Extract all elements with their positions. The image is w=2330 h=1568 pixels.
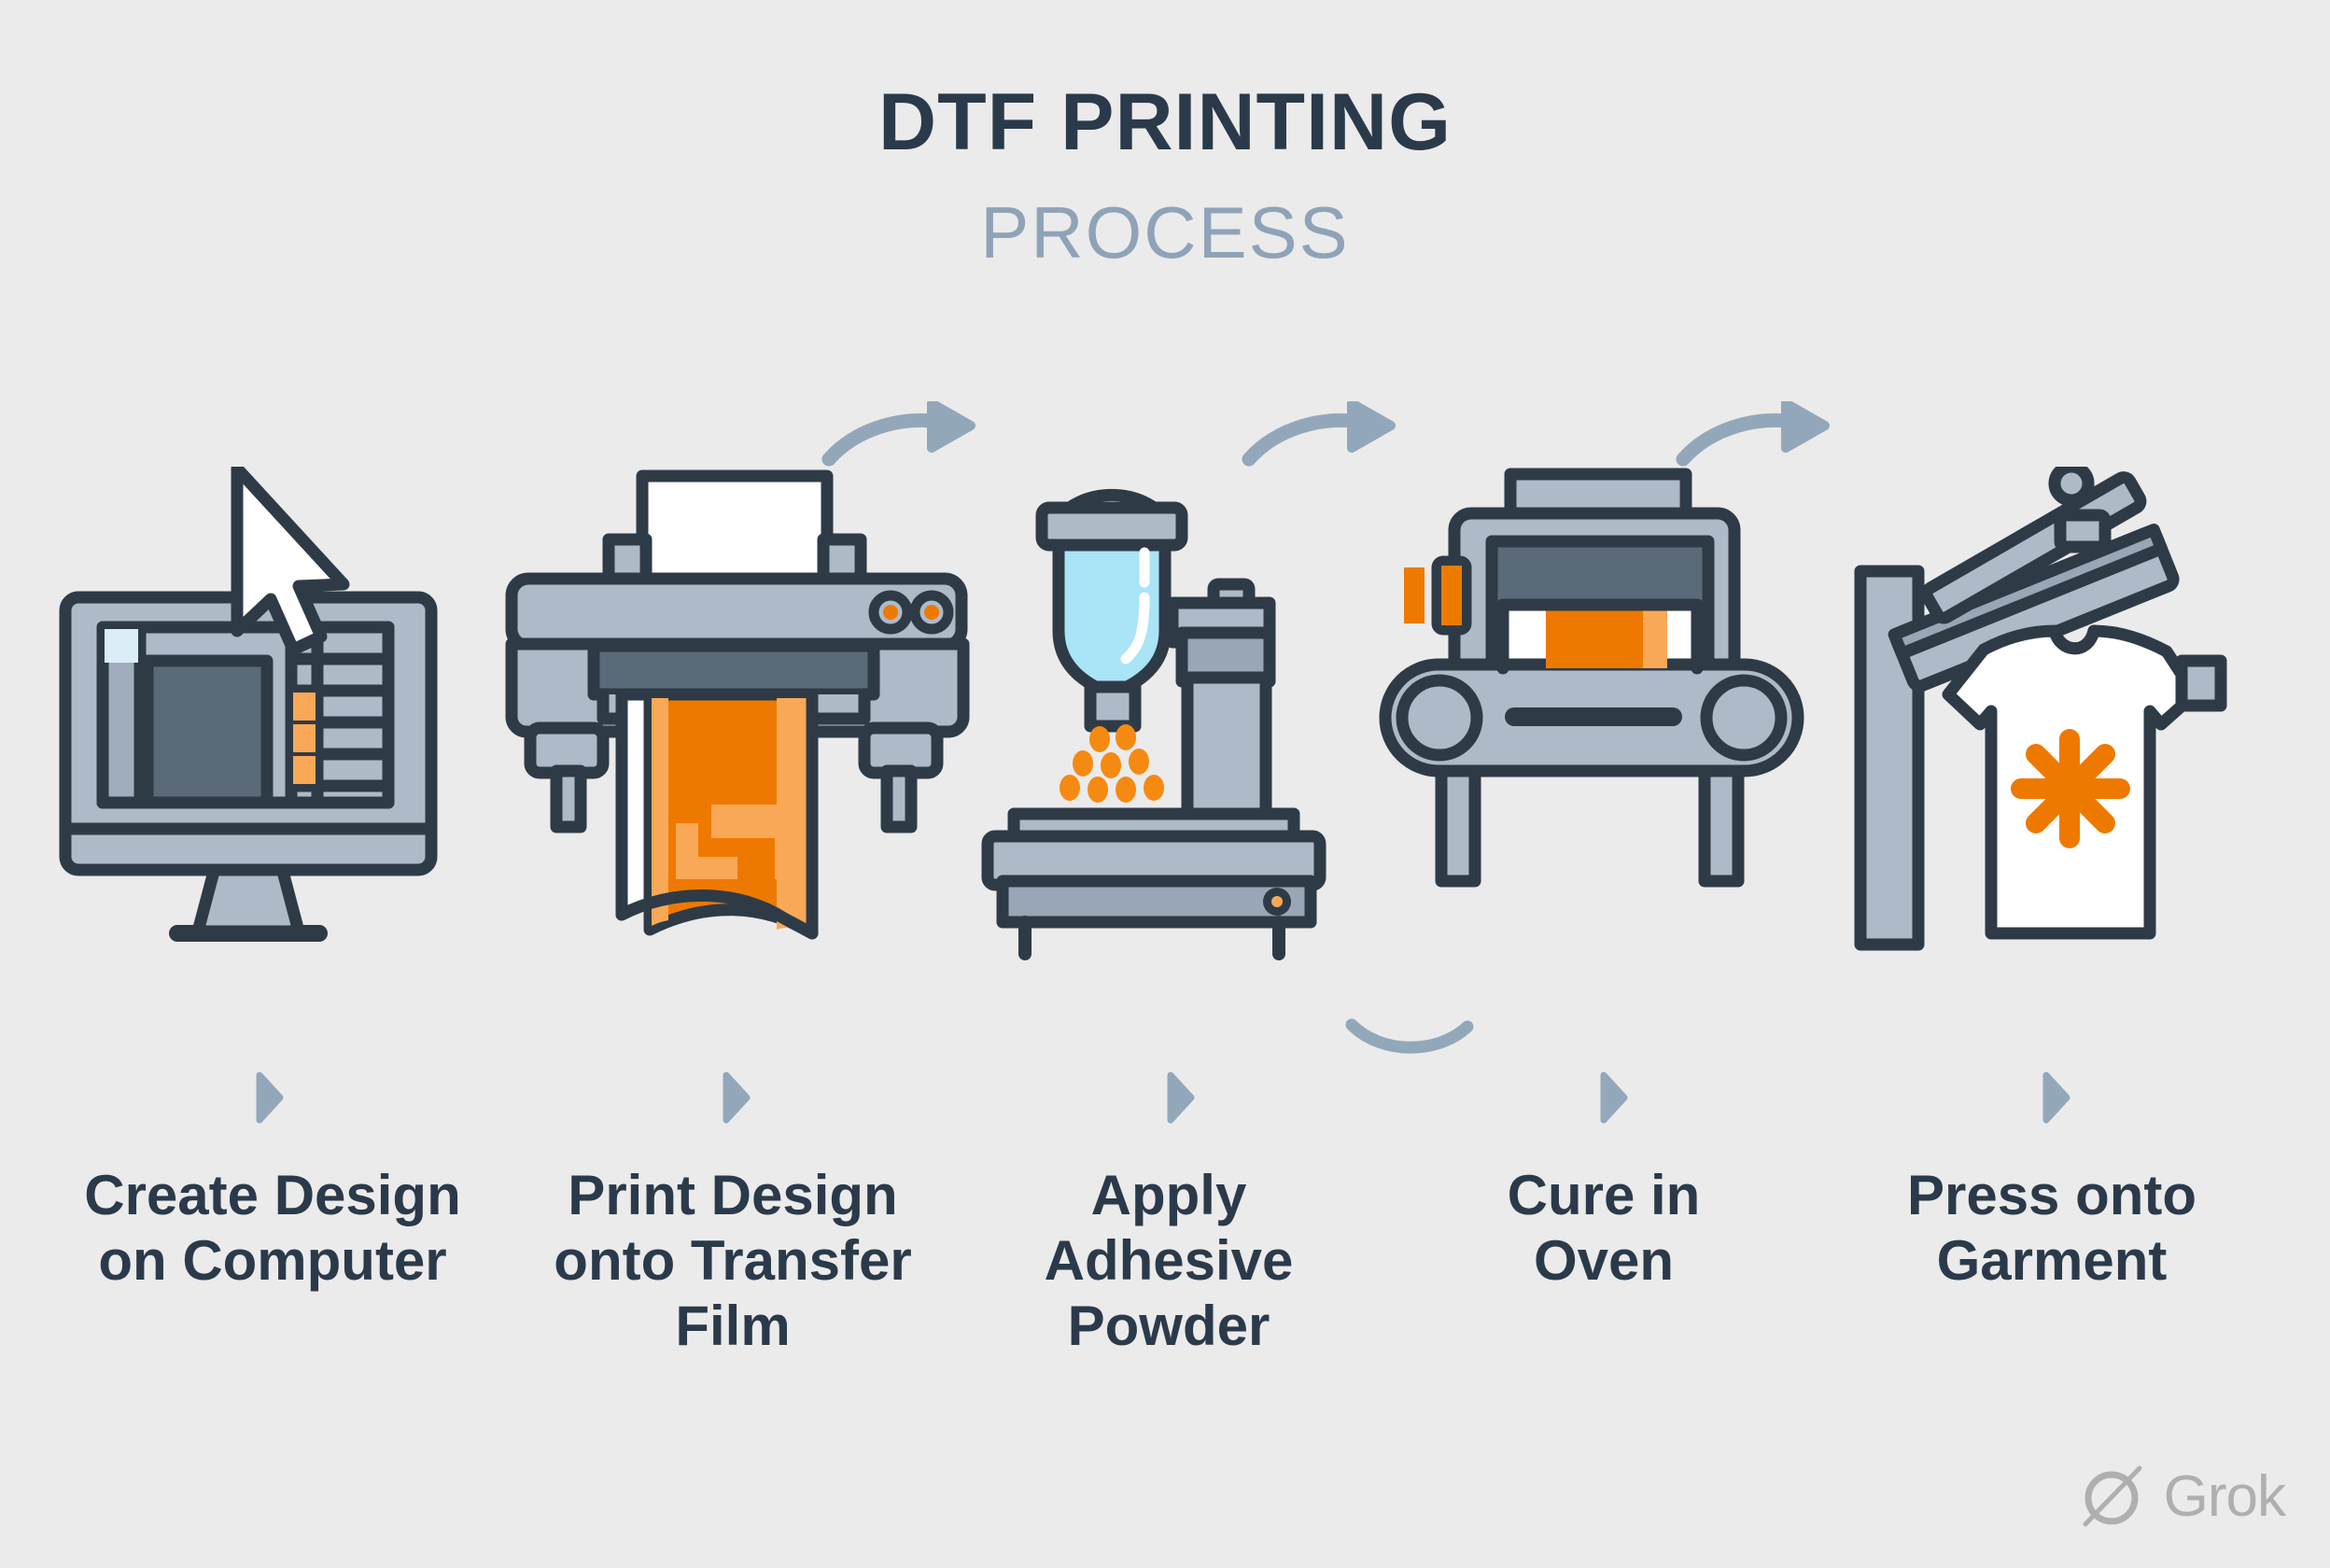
step-label-3: Apply Adhesive Powder bbox=[954, 1163, 1383, 1360]
step-marker-5 bbox=[2041, 1071, 2072, 1128]
step-label-5: Press onto Garment bbox=[1828, 1163, 2276, 1294]
step-label-3-line2: Adhesive bbox=[954, 1228, 1383, 1294]
step-marker-4 bbox=[1598, 1071, 1630, 1128]
page-title: DTF PRINTING PROCESS bbox=[0, 82, 2330, 269]
computer-monitor-design-icon bbox=[58, 467, 469, 994]
step-label-5-line2: Garment bbox=[1828, 1228, 2276, 1294]
step-label-4: Cure in Oven bbox=[1389, 1163, 1818, 1294]
powder-applicator-icon bbox=[980, 467, 1354, 994]
title-main: DTF PRINTING bbox=[0, 82, 2330, 162]
title-subtitle: PROCESS bbox=[0, 196, 2330, 269]
decorative-curve bbox=[1344, 1017, 1475, 1069]
step-label-2-line2: onto Transfer bbox=[509, 1228, 957, 1294]
step-label-1-line2: on Computer bbox=[21, 1228, 525, 1294]
heat-press-tshirt-icon bbox=[1853, 467, 2254, 994]
curing-oven-conveyor-icon bbox=[1372, 467, 1811, 994]
step-label-2-line3: Film bbox=[509, 1294, 957, 1359]
step-label-3-line3: Powder bbox=[954, 1294, 1383, 1359]
step-label-1-line1: Create Design bbox=[21, 1163, 525, 1228]
printer-transfer-film-icon bbox=[504, 467, 971, 994]
grok-watermark-text: Grok bbox=[2164, 1463, 2285, 1530]
step-label-5-line1: Press onto bbox=[1828, 1163, 2276, 1228]
step-label-4-line2: Oven bbox=[1389, 1228, 1818, 1294]
step-marker-2 bbox=[721, 1071, 752, 1128]
step-label-2-line1: Print Design bbox=[509, 1163, 957, 1228]
step-marker-3 bbox=[1165, 1071, 1197, 1128]
step-label-2: Print Design onto Transfer Film bbox=[509, 1163, 957, 1360]
grok-logo-icon bbox=[2078, 1459, 2149, 1534]
step-label-1: Create Design on Computer bbox=[21, 1163, 525, 1294]
step-marker-1 bbox=[254, 1071, 286, 1128]
grok-watermark: Grok bbox=[2078, 1459, 2285, 1534]
step-label-4-line1: Cure in bbox=[1389, 1163, 1818, 1228]
step-label-3-line1: Apply bbox=[954, 1163, 1383, 1228]
